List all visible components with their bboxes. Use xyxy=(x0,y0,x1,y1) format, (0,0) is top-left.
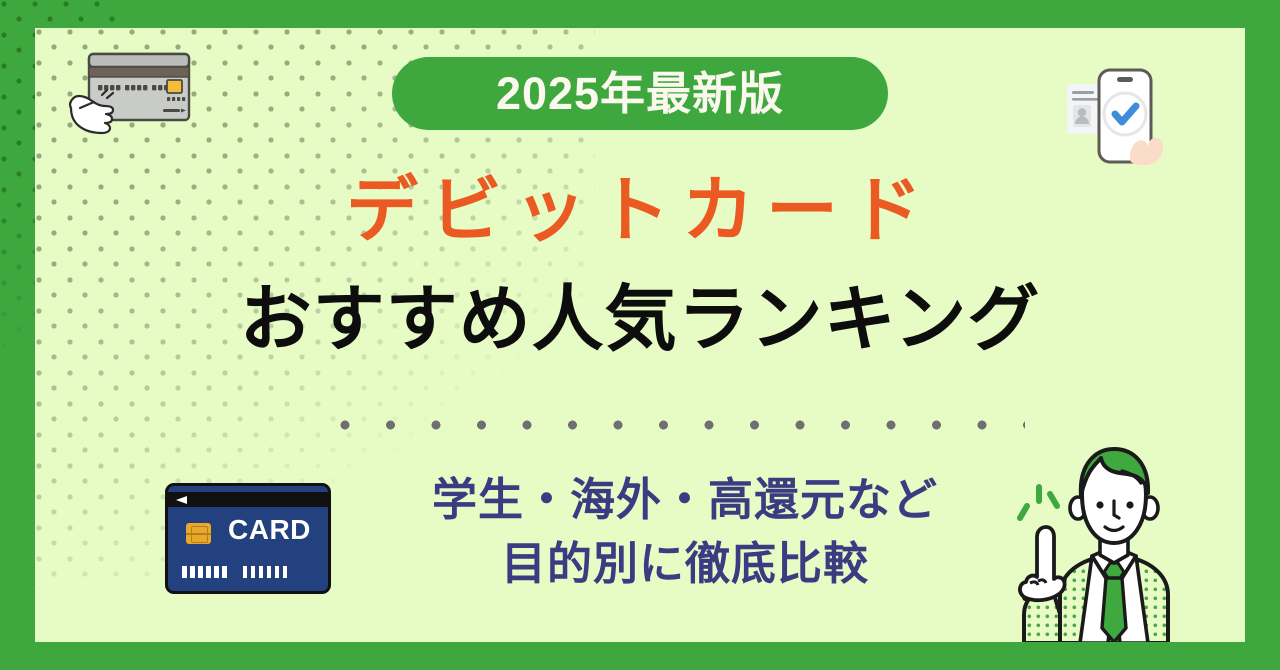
debit-card-ranking-banner: 2025年最新版 デビットカード おすすめ人気ランキング 学生・海外・高還元など… xyxy=(0,0,1280,670)
card-number-blocks xyxy=(182,566,287,578)
banner-inner-panel: 2025年最新版 デビットカード おすすめ人気ランキング 学生・海外・高還元など… xyxy=(35,28,1245,642)
page-title-line-1: デビットカード xyxy=(35,171,1245,252)
card-number-group xyxy=(243,566,288,578)
dotted-divider xyxy=(340,419,1025,431)
hand-holding-credit-card-icon xyxy=(55,38,215,158)
card-label: CARD xyxy=(228,516,311,544)
page-subtitle: 学生・海外・高還元など 目的別に徹底比較 xyxy=(335,468,1035,596)
card-chip-icon xyxy=(186,523,211,544)
page-subtitle-line-2: 目的別に徹底比較 xyxy=(335,532,1035,596)
status-badge: 2025年最新版 xyxy=(392,57,888,130)
bank-card-icon: CARD xyxy=(165,483,331,594)
page-subtitle-line-1: 学生・海外・高還元など xyxy=(335,468,1035,532)
badge-label: 2025年最新版 xyxy=(496,71,784,116)
card-stripe-arrow-icon xyxy=(176,496,187,504)
page-title-line-2: おすすめ人気ランキング xyxy=(35,280,1245,361)
smartphone-verified-checkmark-icon xyxy=(1055,50,1195,190)
card-number-group xyxy=(182,566,227,578)
card-magnetic-stripe xyxy=(168,492,328,507)
person-pointing-up-icon xyxy=(1000,443,1215,642)
